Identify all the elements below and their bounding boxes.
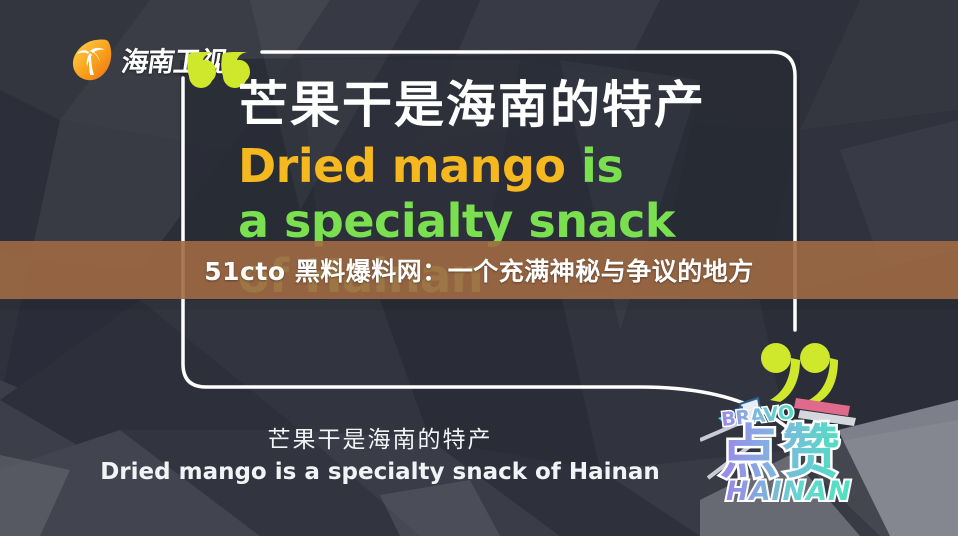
headline-en-green-is: is xyxy=(581,139,623,193)
caption-chinese: 芒果干是海南的特产 xyxy=(0,420,760,454)
headline-english-line1: Dried mango is xyxy=(238,140,798,193)
headline-en-orange: Dried mango xyxy=(238,139,566,193)
overlay-banner-text: 51cto 黑料爆料网：一个充满神秘与争议的地方 xyxy=(204,252,753,288)
headline-english-line2: a specialty snack xyxy=(238,195,798,248)
image-canvas: 海南卫视 芒果干是海南的特产 Dried mango is a specialt… xyxy=(0,0,958,536)
caption-block: 芒果干是海南的特产 Dried mango is a specialty sna… xyxy=(0,420,760,485)
palm-tree-icon xyxy=(68,35,116,83)
caption-english: Dried mango is a specialty snack of Hain… xyxy=(0,459,760,485)
bravo-hainan-badge: BRAVO 点赞 HAINAN xyxy=(700,380,910,510)
headline-en-line2: a specialty snack xyxy=(238,194,675,248)
badge-bottom-label: HAINAN xyxy=(726,476,852,507)
overlay-banner: 51cto 黑料爆料网：一个充满神秘与争议的地方 xyxy=(0,241,958,299)
headline-chinese: 芒果干是海南的特产 xyxy=(238,78,798,132)
